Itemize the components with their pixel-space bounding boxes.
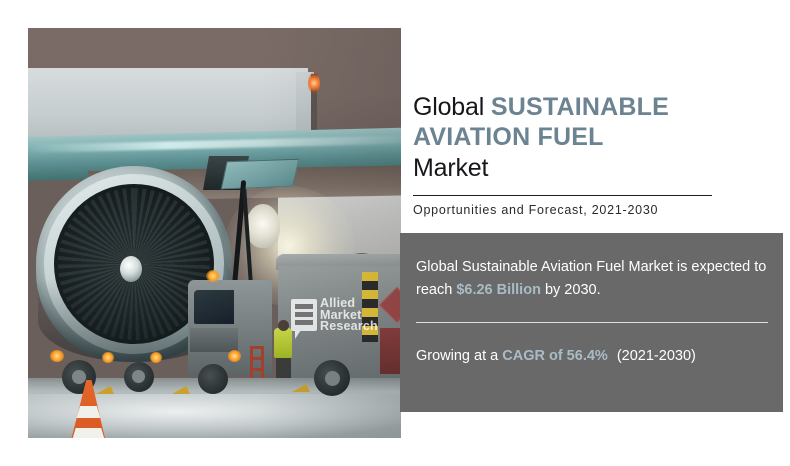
infographic-banner: Allied Market Research Global SUSTAINABL… [0,0,790,466]
cagr-period: (2021-2030) [617,348,696,364]
wheel-hub [132,370,145,383]
bubble-bar [295,320,313,325]
tower-warning-light-icon [308,72,320,94]
cagr-statement: Growing at a CAGR of 56.4% (2021-2030) [416,345,768,368]
title-word-market: Market [413,153,753,183]
hero-photo [28,28,401,438]
cagr-figure: CAGR of 56.4% [502,348,608,364]
wing-flap-panel [221,159,300,189]
cagr-prefix: Growing at a [416,348,498,364]
underwing-lamp [246,204,280,248]
stat-divider [416,322,768,323]
truck-cab-grill [190,328,238,352]
market-value-suffix: by 2030. [545,282,601,298]
wheel-hub [72,370,86,384]
watermark-text: Allied Market Research [320,298,378,333]
worker-hivis-vest [274,328,292,358]
marker-light-icon [50,350,64,362]
truck-cab-window [194,290,234,324]
marker-light-icon [150,352,162,363]
stat-panel: Global Sustainable Aviation Fuel Market … [400,233,783,412]
title-word-global: Global [413,93,484,121]
wheel-hub [325,371,340,386]
headline-block: Global SUSTAINABLE AVIATION FUEL Market [413,92,753,183]
worker-head [278,320,289,331]
speech-bubble-icon [291,299,317,331]
marker-light-icon [228,350,241,362]
bubble-bar [295,304,313,309]
market-value-figure: $6.26 Billion [456,282,541,298]
allied-market-research-watermark: Allied Market Research [291,299,383,351]
title-word-aviation-fuel: AVIATION FUEL [413,123,604,151]
tanker-red-panel [380,328,401,374]
page-title: Global SUSTAINABLE AVIATION FUEL Market [413,92,753,183]
title-divider [413,195,712,196]
bubble-bar [295,312,313,317]
marker-light-icon [102,352,114,363]
watermark-line-3: Research [320,321,378,333]
subtitle: Opportunities and Forecast, 2021-2030 [413,203,743,217]
market-value-statement: Global Sustainable Aviation Fuel Market … [416,256,768,302]
amber-beacon-icon [206,270,220,282]
truck-wheel [198,364,228,394]
title-word-sustainable: SUSTAINABLE [491,93,669,121]
